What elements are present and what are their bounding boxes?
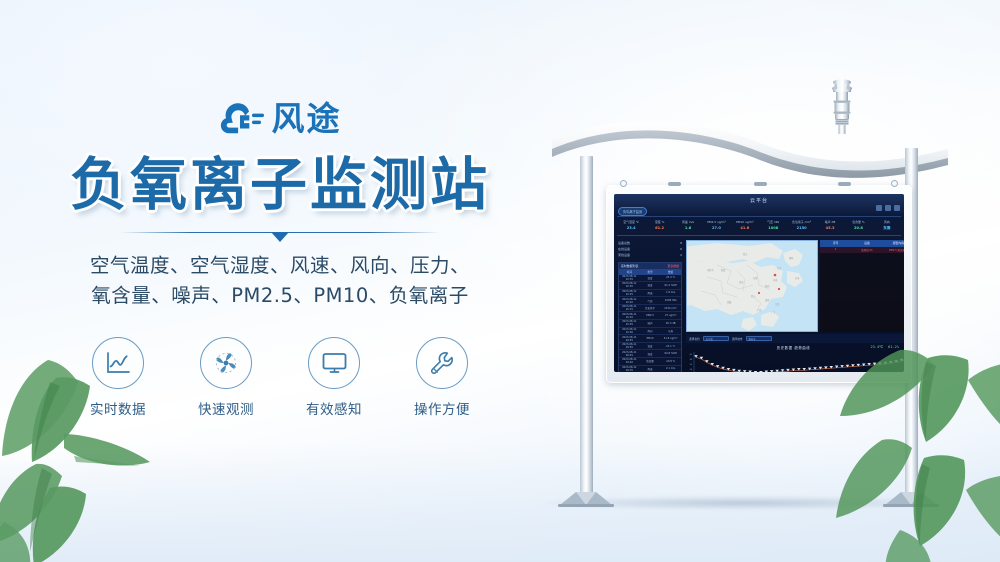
table-cell: 23.1 ℃ (660, 345, 681, 348)
table-cell: 噪声 (640, 321, 661, 325)
table-cell: 湿度 (640, 283, 661, 287)
table-title: 实时数据列表 (621, 264, 638, 268)
table-cell: 气压 (640, 299, 661, 303)
chart-marker (770, 370, 774, 372)
mount-hook-left (620, 180, 627, 187)
chart-marker (743, 370, 747, 372)
table-cell: 2023-08-11 10:00 (619, 328, 640, 334)
china-map[interactable]: 新疆青海 甘肃陕西 河南四川 湖南江西 广西广东 北京西藏 哈萨克朝鲜 蒙古日本 (686, 240, 818, 332)
table-row[interactable]: 2023-08-11 10:10PM2.527 ug/m³ (619, 312, 681, 320)
dashboard-title: 云平台 (614, 197, 904, 204)
dashboard-tag: 负氧离子监测 (618, 207, 647, 216)
table-row[interactable]: 2023-08-11 10:05噪声45.3 dB (619, 320, 681, 328)
table-row[interactable]: 2023-08-11 09:35风速2.1 m/s (619, 366, 681, 372)
table-column-header: 类型 (640, 270, 661, 274)
table-column-header: 时间 (619, 270, 640, 274)
table-cell: 2023-08-11 09:40 (619, 358, 640, 364)
metric-value: 41.6 (731, 225, 759, 232)
monitor-icon (321, 351, 348, 375)
metric-value: 1.8 (674, 225, 702, 232)
chart-y-tick: 36 (690, 364, 693, 366)
table-cell: PM2.5 (640, 314, 661, 317)
metric-value: 东南 (873, 225, 901, 232)
realtime-data-table[interactable]: 实时数据列表 更多数据 时间类型数值 2023-08-11 10:35温度23.… (618, 262, 682, 372)
stat-value: 2 (680, 252, 682, 258)
map-controls[interactable]: 选择省份山东省选择城市潍坊市 (686, 334, 904, 343)
table-row[interactable]: 2023-08-11 10:35温度23.4 ℃ (619, 275, 681, 283)
table-cell: 2023-08-11 09:35 (619, 366, 640, 372)
table-cell: 氧含量 (640, 359, 661, 363)
chart-marker (765, 371, 769, 372)
metric-value: 27.0 (702, 225, 730, 232)
table-cell: 2023-08-11 10:25 (619, 290, 640, 296)
alarm-cell: 1 (820, 248, 851, 251)
subtitle-line-2: 氧含量、噪声、PM2.5、PM10、负氧离子 (0, 281, 560, 311)
metric-value: 20.8 (844, 225, 872, 232)
map-control-value: 山东省 (706, 337, 713, 341)
brand-name: 风途 (272, 102, 342, 136)
device-stat-row: 离线设备2 (618, 252, 682, 258)
alarm-column-header: 报警内容 (883, 241, 904, 245)
wind-cloud-g-logo-icon (219, 102, 265, 136)
table-cell: 温度 (640, 344, 661, 348)
title-divider (120, 228, 440, 244)
table-cell: 湿度 (640, 352, 661, 356)
bezel-tab (668, 182, 681, 186)
table-action[interactable]: 更多数据 (667, 264, 679, 268)
mount-hook-right (891, 180, 898, 187)
feature-item-easy-operation: 操作方便 (405, 337, 479, 418)
table-cell: 60.8 %RH (660, 352, 681, 355)
chart-marker (759, 371, 763, 372)
feature-list-text: 空气温度、空气湿度、风速、风向、压力、 氧含量、噪声、PM2.5、PM10、负氧… (0, 251, 560, 311)
feature-item-realtime-data: 实时数据 (81, 337, 155, 418)
feature-label: 实时数据 (81, 398, 155, 418)
table-cell: 2023-08-11 09:45 (619, 351, 640, 357)
chart-readouts: 23.4℃ 61.2% (870, 345, 899, 349)
feature-item-effective-sensing: 有效感知 (297, 337, 371, 418)
table-row[interactable]: 2023-08-11 09:45湿度60.8 %RH (619, 350, 681, 358)
support-post-left (580, 156, 593, 498)
alarm-cell: 监测站 01 (851, 248, 882, 252)
feature-item-fast-observation: 快速观测 (189, 337, 263, 418)
toolbar-icon[interactable] (885, 205, 891, 211)
table-row[interactable]: 2023-08-11 10:00风向东南 (619, 328, 681, 336)
wrench-icon (429, 350, 455, 376)
device-stat-box: 设备总数8在线设备6离线设备2 (618, 240, 682, 258)
table-cell: 1.8 m/s (660, 291, 681, 294)
table-row[interactable]: 2023-08-11 10:20气压1008 hPa (619, 297, 681, 305)
table-cell: 2.1 m/s (660, 367, 681, 370)
metric-card: PM10 ug/m³41.6 (731, 217, 759, 235)
base-plate-right (883, 490, 939, 507)
table-cell: 27 ug/m³ (660, 314, 681, 317)
chart-marker (754, 371, 758, 372)
map-control-select[interactable]: 山东省 (703, 336, 729, 341)
table-cell: 2150 /cm³ (660, 307, 681, 310)
metric-value: 61.2 (645, 225, 673, 232)
metric-card: 风向东南 (873, 217, 901, 235)
svg-text:四川: 四川 (751, 295, 755, 298)
table-cell: 风向 (640, 329, 661, 333)
table-cell: 20.8 % (660, 360, 681, 363)
table-cell: 风速 (640, 291, 661, 295)
table-row[interactable]: 2023-08-11 10:30湿度61.2 %RH (619, 282, 681, 290)
metric-card: PM2.5 ug/m³27.0 (702, 217, 730, 235)
table-row[interactable]: 2023-08-11 09:40氧含量20.8 % (619, 358, 681, 366)
table-cell: 东南 (660, 329, 681, 333)
metric-value: 2150 (787, 225, 815, 232)
table-cell: 风速 (640, 367, 661, 371)
table-row[interactable]: 2023-08-11 10:15负氧离子2150 /cm³ (619, 305, 681, 313)
line-chart-icon (105, 351, 131, 375)
subtitle-line-1: 空气温度、空气湿度、风速、风向、压力、 (0, 251, 560, 281)
table-cell: 41.6 ug/m³ (660, 337, 681, 340)
trend-chart: 历史数据 趋势曲线 23.4℃ 61.2% 01224364860 08-010… (686, 345, 901, 370)
metric-value: 1008 (759, 225, 787, 232)
table-cell: 1008 hPa (660, 299, 681, 302)
chart-title: 历史数据 趋势曲线 (686, 345, 901, 350)
chart-marker (700, 357, 704, 360)
feature-label: 快速观测 (189, 398, 263, 418)
metric-card: 气压 hPa1008 (759, 217, 787, 235)
chart-y-tick: 48 (690, 359, 693, 361)
table-cell: 2023-08-11 10:15 (619, 305, 640, 311)
table-cell: 45.3 dB (660, 322, 681, 325)
map-control-label: 选择省份 (689, 337, 700, 341)
brand-lockup: 风途 (0, 96, 560, 142)
dashboard-screen[interactable]: 云平台 负氧离子监测 空气温度 ℃23.4湿度 %61.2风速 m/s1.8PM… (614, 194, 904, 372)
feature-icon-row: 实时数据 快速观测 (0, 337, 560, 418)
chart-plot: 01224364860 08-0108-0208-0308-0408-0508-… (686, 351, 904, 372)
table-column-header: 数值 (660, 270, 681, 274)
dashboard-toolbar[interactable] (876, 205, 900, 211)
table-cell: 负氧离子 (640, 306, 661, 310)
chart-y-tick: 60 (690, 354, 693, 356)
metric-card: 空气温度 ℃23.4 (617, 217, 645, 235)
metric-value: 45.3 (816, 225, 844, 232)
metric-value: 23.4 (617, 225, 645, 232)
alarm-column-header: 设备 (851, 241, 882, 245)
table-cell: 2023-08-11 10:35 (619, 275, 640, 281)
stat-label: 离线设备 (618, 252, 630, 258)
table-row[interactable]: 2023-08-11 10:25风速1.8 m/s (619, 290, 681, 298)
alarm-panel: 序号设备报警内容 1监测站 01PM2.5 超过阈值 (820, 240, 904, 332)
alarm-column-header: 序号 (820, 241, 851, 245)
table-cell: 2023-08-11 10:20 (619, 298, 640, 304)
table-cell: 2023-08-11 09:55 (619, 336, 640, 342)
chart-readout-value: 61.2% (888, 345, 899, 349)
table-cell: 温度 (640, 276, 661, 280)
table-cell: 23.4 ℃ (660, 276, 681, 279)
table-header-row: 时间类型数值 (619, 269, 681, 275)
metric-strip: 空气温度 ℃23.4湿度 %61.2风速 m/s1.8PM2.5 ug/m³27… (617, 216, 901, 236)
feature-ring (200, 337, 252, 389)
feature-ring (308, 337, 360, 389)
map-control-select[interactable]: 潍坊市 (746, 336, 772, 341)
text-column: 风途 负氧离子监测站 空气温度、空气湿度、风速、风向、压力、 氧含量、噪声、PM… (0, 96, 560, 418)
chart-y-tick: 24 (690, 369, 693, 371)
table-cell: 2023-08-11 10:10 (619, 313, 640, 319)
map-render: 新疆青海 甘肃陕西 河南四川 湖南江西 广西广东 北京西藏 哈萨克朝鲜 蒙古日本 (687, 241, 818, 332)
wave-canopy (550, 118, 950, 182)
alarm-cell: PM2.5 超过阈值 (883, 248, 904, 252)
table-cell: 2023-08-11 09:50 (619, 343, 640, 349)
table-cell: 61.2 %RH (660, 284, 681, 287)
table-cell: 2023-08-11 10:30 (619, 282, 640, 288)
toolbar-icon[interactable] (894, 205, 900, 211)
metric-card: 风速 m/s1.8 (674, 217, 702, 235)
metric-card: 噪声 dB45.3 (816, 217, 844, 235)
bezel-tab (754, 182, 767, 186)
monitoring-kiosk: 云平台 负氧离子监测 空气温度 ℃23.4湿度 %61.2风速 m/s1.8PM… (520, 60, 980, 530)
chart-marker (748, 371, 752, 372)
table-cell: PM10 (640, 337, 661, 340)
toolbar-icon[interactable] (876, 205, 882, 211)
map-control-label: 选择城市 (732, 337, 743, 341)
base-plate-left (558, 490, 614, 507)
display-panel: 云平台 负氧离子监测 空气温度 ℃23.4湿度 %61.2风速 m/s1.8PM… (606, 185, 912, 383)
chart-readout-value: 23.4℃ (870, 345, 883, 349)
table-cell: 2023-08-11 10:05 (619, 320, 640, 326)
feature-ring (92, 337, 144, 389)
poster-canvas: 风途 负氧离子监测站 空气温度、空气湿度、风速、风向、压力、 氧含量、噪声、PM… (0, 0, 1000, 562)
radar-fan-icon (213, 350, 239, 376)
svg-text:哈萨克: 哈萨克 (707, 268, 714, 272)
metric-card: 负氧离子 /cm³2150 (787, 217, 815, 235)
bezel-tab (838, 182, 851, 186)
map-control-value: 潍坊市 (749, 337, 756, 341)
feature-label: 操作方便 (405, 398, 479, 418)
table-body: 2023-08-11 10:35温度23.4 ℃2023-08-11 10:30… (619, 275, 681, 373)
table-row[interactable]: 2023-08-11 09:55PM1041.6 ug/m³ (619, 335, 681, 343)
table-row[interactable]: 2023-08-11 09:50温度23.1 ℃ (619, 343, 681, 351)
metric-card: 氧含量 %20.8 (844, 217, 872, 235)
page-title: 负氧离子监测站 (0, 156, 560, 216)
metric-card: 湿度 %61.2 (645, 217, 673, 235)
alarm-panel-body (820, 253, 904, 332)
feature-label: 有效感知 (297, 398, 371, 418)
divider-arrow-icon (271, 232, 289, 242)
feature-ring (416, 337, 468, 389)
